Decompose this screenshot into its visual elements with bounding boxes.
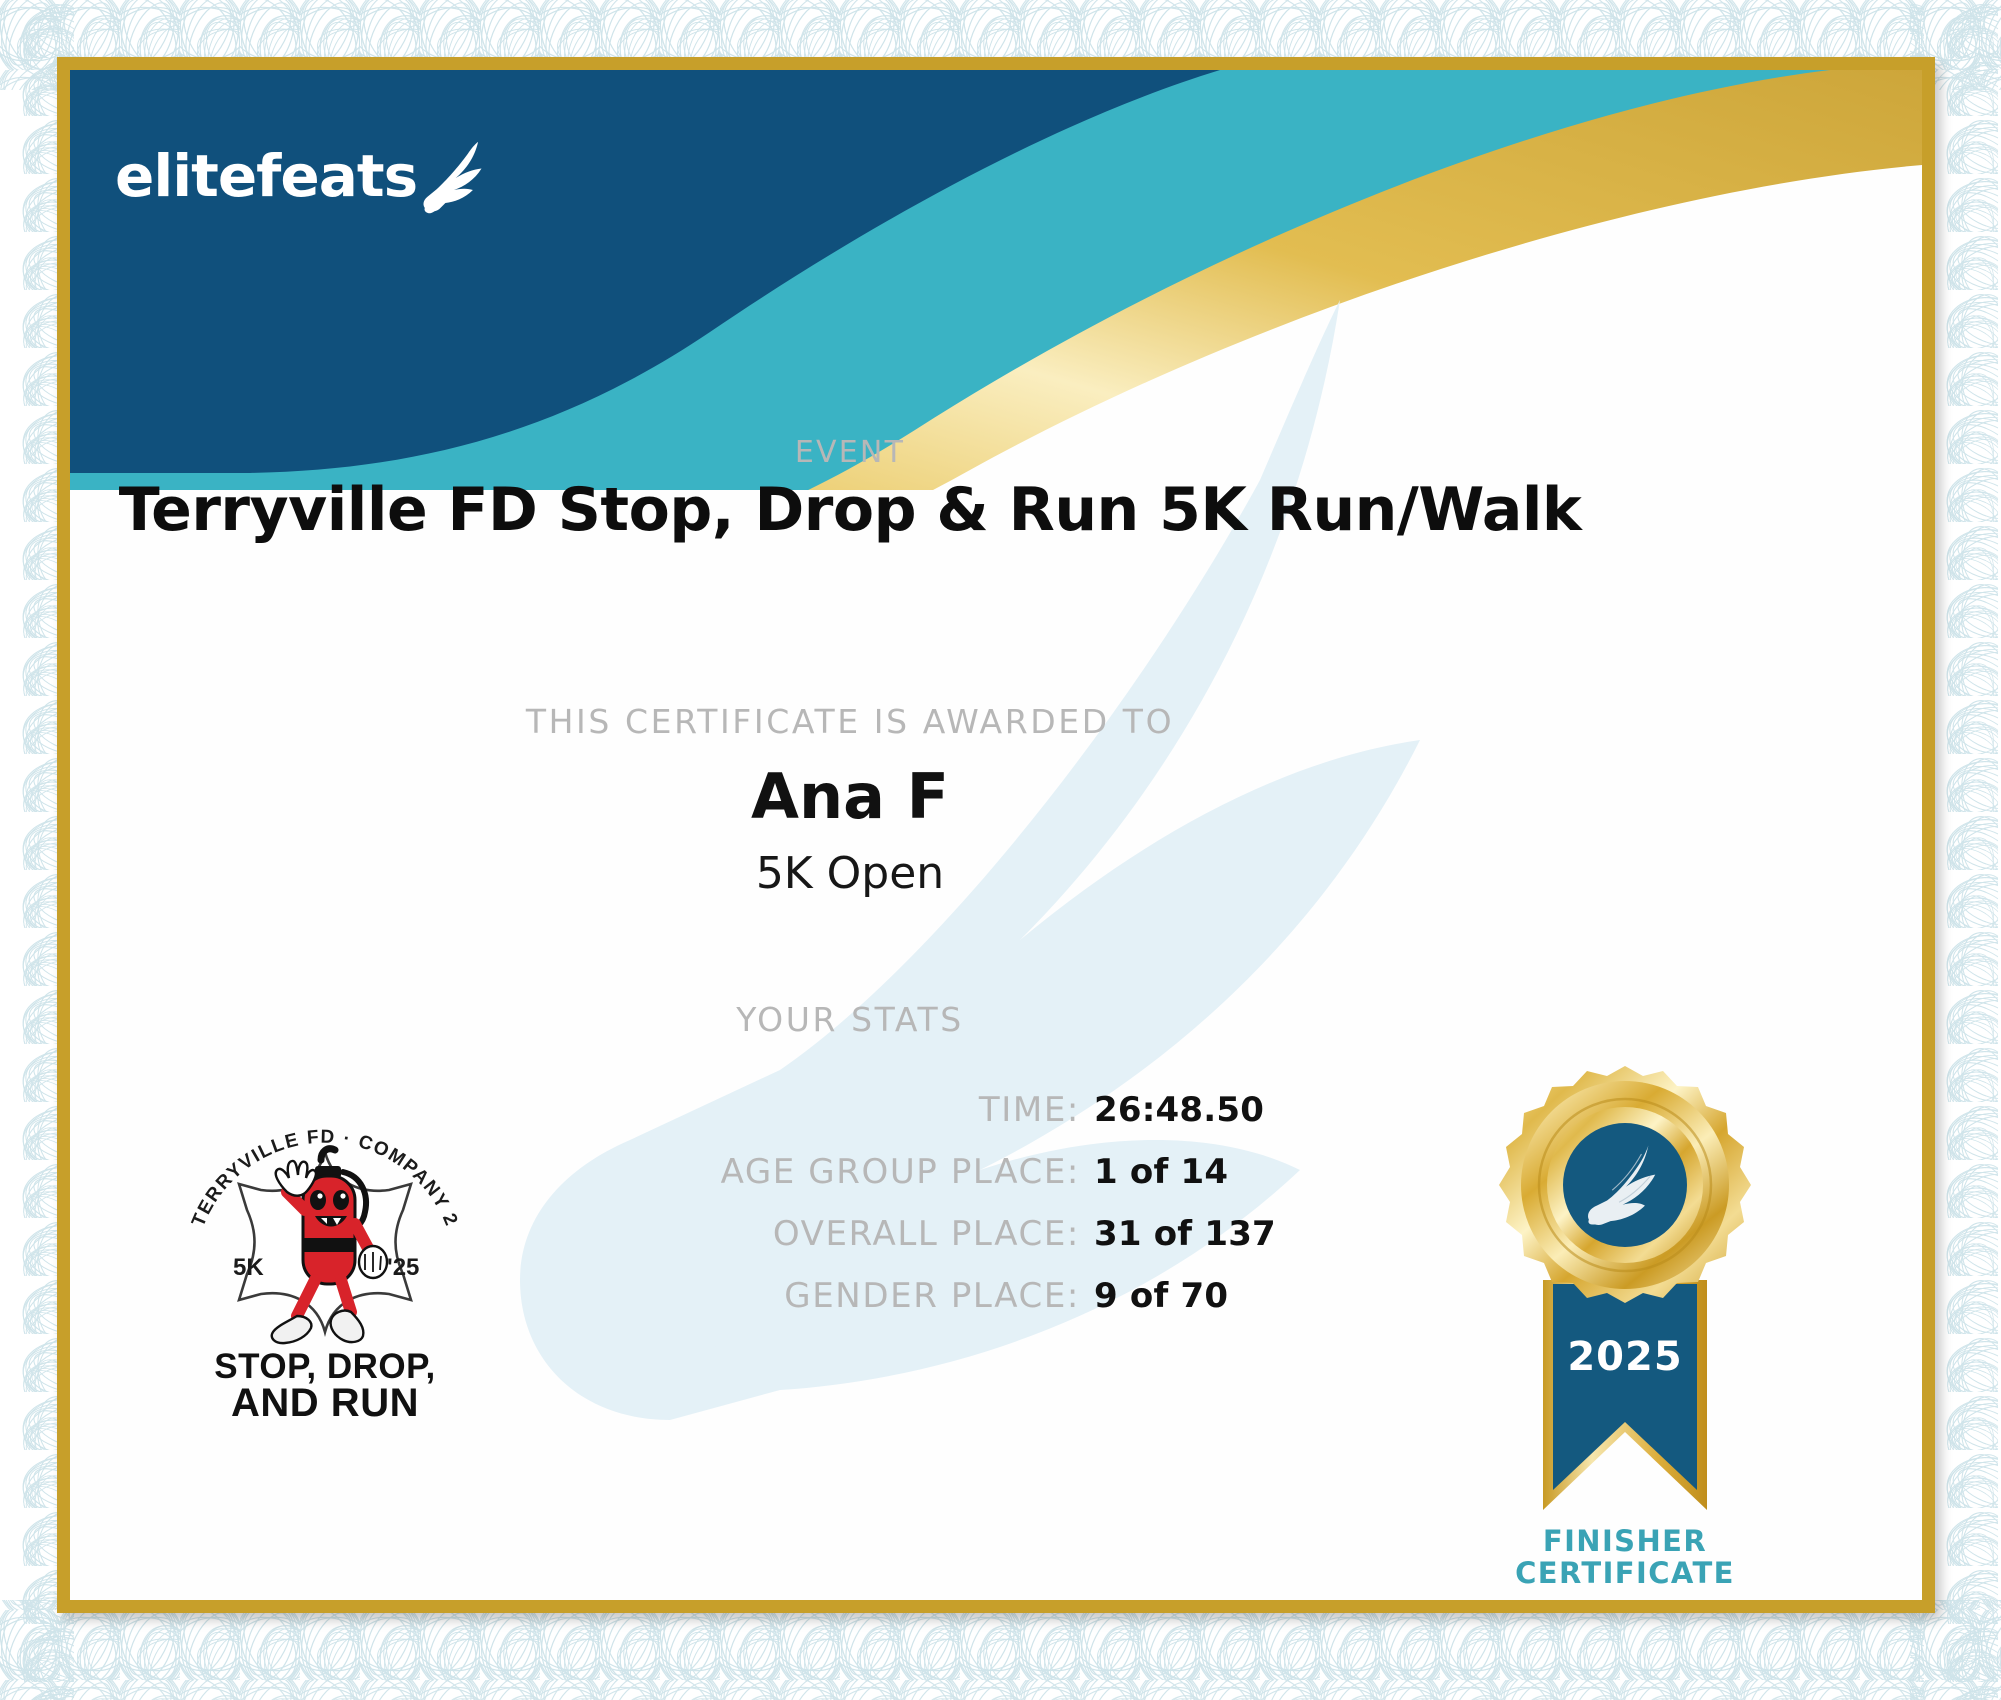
winged-foot-icon — [411, 135, 497, 221]
stat-row-age-group-place: AGE GROUP PLACE: 1 of 14 — [380, 1152, 1390, 1192]
stats-table: TIME: 26:48.50 AGE GROUP PLACE: 1 of 14 … — [380, 1090, 1390, 1338]
brand-logo: elitefeats — [115, 135, 497, 205]
finisher-medal-badge: 2025 — [1465, 1050, 1785, 1570]
stat-value: 1 of 14 — [1094, 1152, 1228, 1192]
stat-label: OVERALL PLACE: — [380, 1214, 1080, 1254]
event-logo-tagline-2: AND RUN — [231, 1381, 419, 1420]
stat-label: AGE GROUP PLACE: — [380, 1152, 1080, 1192]
your-stats-label: YOUR STATS — [70, 1000, 1630, 1039]
finisher-caption-line-2: CERTIFICATE — [1435, 1557, 1815, 1589]
stat-label: TIME: — [380, 1090, 1080, 1130]
finisher-caption-line-1: FINISHER — [1435, 1525, 1815, 1557]
event-title: Terryville FD Stop, Drop & Run 5K Run/Wa… — [70, 475, 1630, 545]
certificate-card: elitefeats EVENT Terryville FD Stop, Dro… — [57, 57, 1935, 1613]
certificate-body: elitefeats EVENT Terryville FD Stop, Dro… — [70, 70, 1922, 1600]
event-logo: TERRYVILLE FD · COMPANY 2 5K '25 — [175, 1090, 475, 1420]
brand-wordmark: elitefeats — [115, 147, 417, 205]
medal-year: 2025 — [1567, 1334, 1682, 1380]
medal-ribbon — [1553, 1284, 1697, 1490]
stat-label: GENDER PLACE: — [380, 1276, 1080, 1316]
event-section-label: EVENT — [70, 435, 1630, 470]
stat-row-gender-place: GENDER PLACE: 9 of 70 — [380, 1276, 1390, 1316]
stat-value: 31 of 137 — [1094, 1214, 1276, 1254]
stat-row-overall-place: OVERALL PLACE: 31 of 137 — [380, 1214, 1390, 1254]
stat-value: 9 of 70 — [1094, 1276, 1228, 1316]
header-swoosh-art — [70, 70, 1922, 490]
recipient-name: Ana F — [70, 760, 1630, 833]
stat-row-time: TIME: 26:48.50 — [380, 1090, 1390, 1130]
stat-value: 26:48.50 — [1094, 1090, 1264, 1130]
awarded-to-label: THIS CERTIFICATE IS AWARDED TO — [70, 702, 1630, 741]
recipient-division: 5K Open — [70, 848, 1630, 899]
finisher-certificate-caption: FINISHER CERTIFICATE — [1435, 1525, 1815, 1590]
event-logo-right-badge: '25 — [387, 1254, 419, 1281]
event-logo-left-badge: 5K — [233, 1254, 264, 1281]
